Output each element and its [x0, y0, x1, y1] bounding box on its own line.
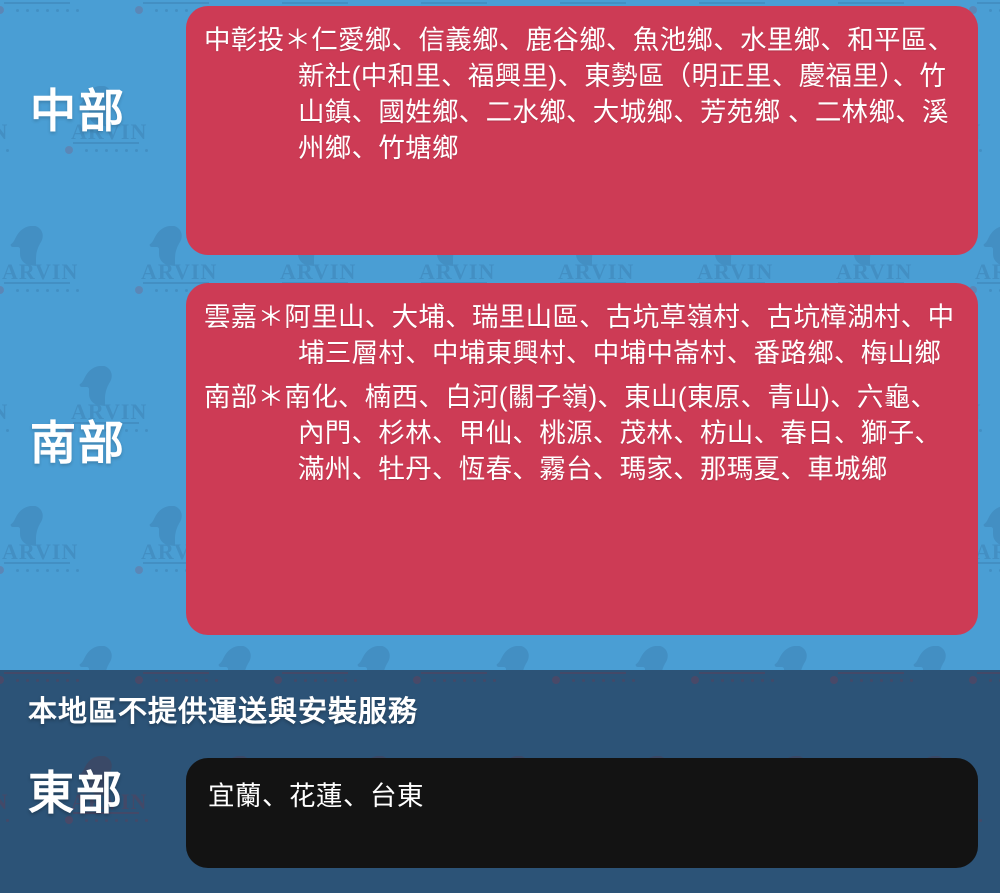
watermark-dots	[0, 676, 80, 685]
watermark-rule	[143, 672, 209, 674]
coverage-entry-lead: 雲嘉＊	[204, 302, 284, 332]
coverage-entry-body: 南化、楠西、白河(關子嶺)、東山(東原、青山)、六龜、內門、杉林、甲仙、桃源、茂…	[284, 382, 941, 484]
coverage-entry-lead: 南部＊	[204, 382, 284, 412]
coverage-entry-body: 仁愛鄉、信義鄉、鹿谷鄉、魚池鄉、水里鄉、和平區、新社(中和里、福興里)、東勢區（…	[298, 25, 954, 163]
watermark-brand-text: ARVIN	[558, 670, 634, 675]
coverage-region: 中部 中彰投＊仁愛鄉、信義鄉、鹿谷鄉、魚池鄉、水里鄉、和平區、新社(中和里、福興…	[0, 0, 1000, 670]
coverage-entry: 雲嘉＊阿里山、大埔、瑞里山區、古坑草嶺村、古坑樟湖村、中埔三層村、中埔東興村、中…	[204, 299, 960, 371]
watermark-brand-text: ARVIN	[141, 670, 217, 675]
watermark-rule	[4, 672, 70, 674]
watermark-dots	[691, 676, 775, 685]
watermark-brand-text: ARVIN	[2, 670, 78, 675]
no-service-heading: 本地區不提供運送與安裝服務	[28, 688, 418, 730]
watermark-rule	[560, 672, 626, 674]
watermark-tile: ARVIN	[675, 670, 785, 702]
watermark-brand-text: ARVIN	[419, 670, 495, 675]
south-region-panel: 雲嘉＊阿里山、大埔、瑞里山區、古坑草嶺村、古坑樟湖村、中埔三層村、中埔東興村、中…	[186, 283, 978, 635]
watermark-rule	[699, 672, 765, 674]
watermark-brand-text: ARVIN	[280, 670, 356, 675]
region-label-south: 南部	[30, 420, 126, 466]
watermark-rule	[282, 672, 348, 674]
watermark-dots	[274, 676, 358, 685]
central-region-panel: 中彰投＊仁愛鄉、信義鄉、鹿谷鄉、魚池鄉、水里鄉、和平區、新社(中和里、福興里)、…	[186, 6, 978, 255]
coverage-entry: 南部＊南化、楠西、白河(關子嶺)、東山(東原、青山)、六龜、內門、杉林、甲仙、桃…	[204, 379, 960, 487]
region-label-east: 東部	[28, 770, 124, 816]
coverage-entry-lead: 中彰投＊	[204, 25, 311, 55]
watermark-dots	[135, 676, 219, 685]
watermark-dots	[969, 676, 1000, 685]
watermark-brand-text: ARVIN	[697, 670, 773, 675]
watermark-tile: ARVIN	[0, 756, 20, 842]
no-service-region: ARVINARVINARVINARVINARVINARVINARVINARVIN…	[0, 670, 1000, 893]
east-region-panel: 宜蘭、花蓮、台東	[186, 758, 978, 868]
watermark-brand-text: ARVIN	[975, 670, 1000, 675]
coverage-entry: 中彰投＊仁愛鄉、信義鄉、鹿谷鄉、魚池鄉、水里鄉、和平區、新社(中和里、福興里)、…	[204, 22, 960, 166]
delivery-coverage-infographic: ARVINARVINARVINARVINARVINARVINARVINARVIN…	[0, 0, 1000, 893]
watermark-brand-text: ARVIN	[0, 789, 8, 815]
region-label-central: 中部	[30, 88, 126, 134]
watermark-tile: ARVIN	[814, 670, 924, 702]
coverage-entry-body: 阿里山、大埔、瑞里山區、古坑草嶺村、古坑樟湖村、中埔三層村、中埔東興村、中埔中崙…	[284, 302, 954, 368]
watermark-tile: ARVIN	[953, 670, 1000, 702]
watermark-rule	[838, 672, 904, 674]
watermark-dots	[413, 676, 497, 685]
east-region-list: 宜蘭、花蓮、台東	[208, 778, 956, 814]
watermark-dots	[830, 676, 914, 685]
watermark-brand-text: ARVIN	[836, 670, 912, 675]
watermark-dots	[552, 676, 636, 685]
watermark-dots	[0, 816, 10, 825]
watermark-tile: ARVIN	[536, 670, 646, 702]
watermark-rule	[421, 672, 487, 674]
watermark-rule	[977, 672, 1000, 674]
